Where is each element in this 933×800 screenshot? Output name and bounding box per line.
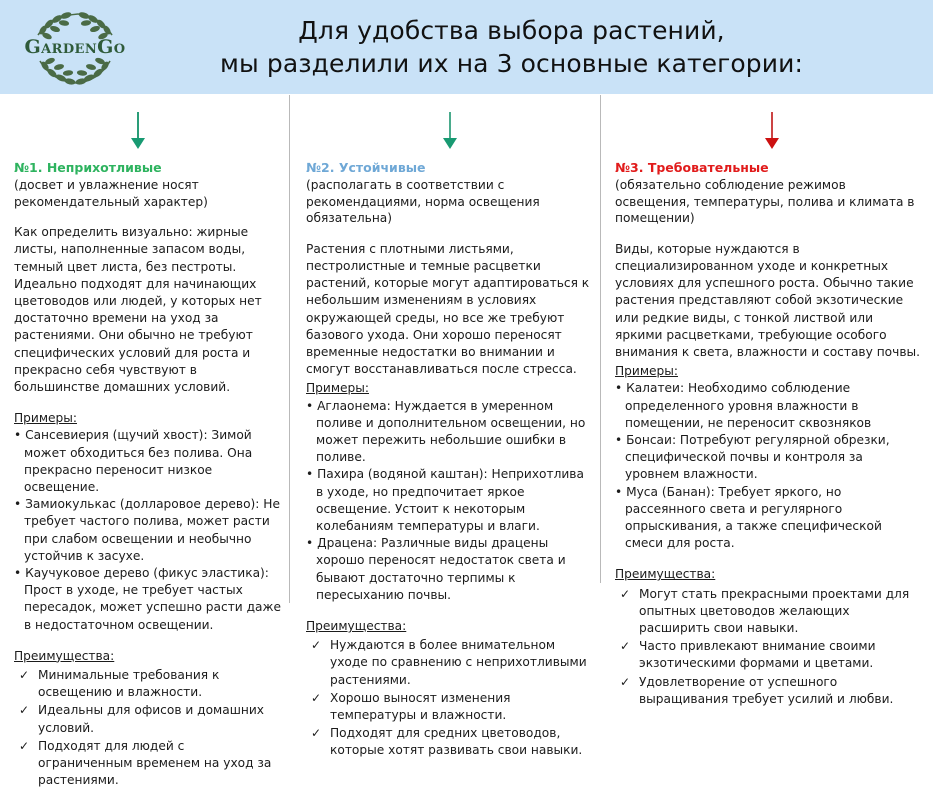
check-icon: ✓ bbox=[311, 690, 321, 707]
arrow-head bbox=[443, 138, 457, 149]
list-item: ✓Могут стать прекрасными проектами для о… bbox=[615, 586, 920, 638]
check-icon: ✓ bbox=[311, 725, 321, 742]
column-3-body: Виды, которые нуждаются в специализирова… bbox=[615, 241, 920, 361]
list-item: • Сансевиерия (щучий хвост): Зимой может… bbox=[14, 427, 282, 496]
logo: GardenGo bbox=[0, 0, 150, 94]
column-1-advantages-label: Преимущества: bbox=[14, 648, 282, 665]
check-icon: ✓ bbox=[19, 702, 29, 719]
list-item: • Аглаонема: Нуждается в умеренном полив… bbox=[306, 398, 590, 467]
list-item: ✓Нуждаются в более внимательном уходе по… bbox=[306, 637, 590, 689]
column-1-subtitle: (досвет и увлажнение носят рекомендатель… bbox=[14, 177, 282, 210]
column-2-body: Растения с плотными листьями, пестролист… bbox=[306, 241, 590, 379]
laurel-wreath-icon: GardenGo bbox=[16, 5, 134, 89]
list-item: ✓Хорошо выносят изменения температуры и … bbox=[306, 690, 590, 724]
column-3-advantages-label: Преимущества: bbox=[615, 566, 920, 583]
list-item: ✓Идеальны для офисов и домашних условий. bbox=[14, 702, 282, 736]
list-item: • Пахира (водяной каштан): Неприхотлива … bbox=[306, 466, 590, 535]
column-2-advantages-list: ✓Нуждаются в более внимательном уходе по… bbox=[306, 637, 590, 759]
category-column-2: №2. Устойчивые (располагать в соответств… bbox=[306, 160, 590, 761]
arrow-to-column-3 bbox=[758, 112, 786, 154]
column-1-title: №1. Неприхотливые bbox=[14, 160, 282, 176]
page-title-line-1: Для удобства выбора растений, bbox=[298, 16, 724, 45]
list-item-label: Могут стать прекрасными проектами для оп… bbox=[639, 587, 909, 635]
page-title: Для удобства выбора растений, мы раздели… bbox=[150, 14, 933, 80]
list-item-label: Подходят для средних цветоводов, которые… bbox=[330, 726, 582, 757]
column-2-subtitle: (располагать в соответствии с рекомендац… bbox=[306, 177, 590, 227]
list-item-label: Идеальны для офисов и домашних условий. bbox=[38, 703, 264, 734]
header-band: GardenGo Для удобства выбора растений, м… bbox=[0, 0, 933, 94]
list-item-label: Часто привлекают внимание своими экзотич… bbox=[639, 639, 875, 670]
list-item-label: Минимальные требования к освещению и вла… bbox=[38, 668, 219, 699]
page-title-line-2: мы разделили их на 3 основные категории: bbox=[150, 47, 873, 80]
list-item: • Муса (Банан): Требует яркого, но рассе… bbox=[615, 484, 920, 553]
arrow-to-column-2 bbox=[436, 112, 464, 154]
logo-text: GardenGo bbox=[25, 36, 126, 58]
list-item: • Драцена: Различные виды драцены хорошо… bbox=[306, 535, 590, 604]
column-divider-2 bbox=[600, 95, 601, 583]
list-item-label: Удовлетворение от успешного выращивания … bbox=[639, 675, 893, 706]
column-divider-1 bbox=[289, 95, 290, 603]
list-item-label: Хорошо выносят изменения температуры и в… bbox=[330, 691, 511, 722]
column-3-examples-list: • Калатеи: Необходимо соблюдение определ… bbox=[615, 380, 920, 552]
category-column-3: №3. Требовательные (обязательно соблюден… bbox=[615, 160, 920, 709]
list-item: • Каучуковое дерево (фикус эластика): Пр… bbox=[14, 565, 282, 634]
arrow-shaft bbox=[449, 112, 451, 140]
list-item: ✓Подходят для средних цветоводов, которы… bbox=[306, 725, 590, 759]
column-3-title: №3. Требовательные bbox=[615, 160, 920, 176]
check-icon: ✓ bbox=[620, 674, 630, 691]
column-3-examples-label: Примеры: bbox=[615, 363, 920, 380]
list-item: ✓Минимальные требования к освещению и вл… bbox=[14, 667, 282, 701]
arrow-shaft bbox=[771, 112, 773, 140]
list-item-label: Нуждаются в более внимательном уходе по … bbox=[330, 638, 587, 686]
column-1-examples-label: Примеры: bbox=[14, 410, 282, 427]
column-1-examples-list: • Сансевиерия (щучий хвост): Зимой может… bbox=[14, 427, 282, 633]
list-item: • Бонсаи: Потребуют регулярной обрезки, … bbox=[615, 432, 920, 484]
list-item: ✓Часто привлекают внимание своими экзоти… bbox=[615, 638, 920, 672]
check-icon: ✓ bbox=[311, 637, 321, 654]
list-item-label: Подходят для людей с ограниченным времен… bbox=[38, 739, 271, 787]
check-icon: ✓ bbox=[620, 586, 630, 603]
check-icon: ✓ bbox=[19, 738, 29, 755]
column-2-examples-list: • Аглаонема: Нуждается в умеренном полив… bbox=[306, 398, 590, 604]
column-1-body: Как определить визуально: жирные листы, … bbox=[14, 224, 282, 396]
column-1-advantages-list: ✓Минимальные требования к освещению и вл… bbox=[14, 667, 282, 789]
category-column-1: №1. Неприхотливые (досвет и увлажнение н… bbox=[14, 160, 282, 790]
column-2-examples-label: Примеры: bbox=[306, 380, 590, 397]
arrow-to-column-1 bbox=[124, 112, 152, 154]
arrow-head bbox=[765, 138, 779, 149]
list-item: ✓Удовлетворение от успешного выращивания… bbox=[615, 674, 920, 708]
list-item: • Калатеи: Необходимо соблюдение определ… bbox=[615, 380, 920, 432]
check-icon: ✓ bbox=[620, 638, 630, 655]
check-icon: ✓ bbox=[19, 667, 29, 684]
column-2-title: №2. Устойчивые bbox=[306, 160, 590, 176]
column-3-advantages-list: ✓Могут стать прекрасными проектами для о… bbox=[615, 586, 920, 708]
column-2-advantages-label: Преимущества: bbox=[306, 618, 590, 635]
arrow-shaft bbox=[137, 112, 139, 140]
list-item: ✓Подходят для людей с ограниченным време… bbox=[14, 738, 282, 790]
column-3-subtitle: (обязательно соблюдение режимов освещени… bbox=[615, 177, 920, 227]
arrow-head bbox=[131, 138, 145, 149]
list-item: • Замиокулькас (долларовое дерево): Не т… bbox=[14, 496, 282, 565]
